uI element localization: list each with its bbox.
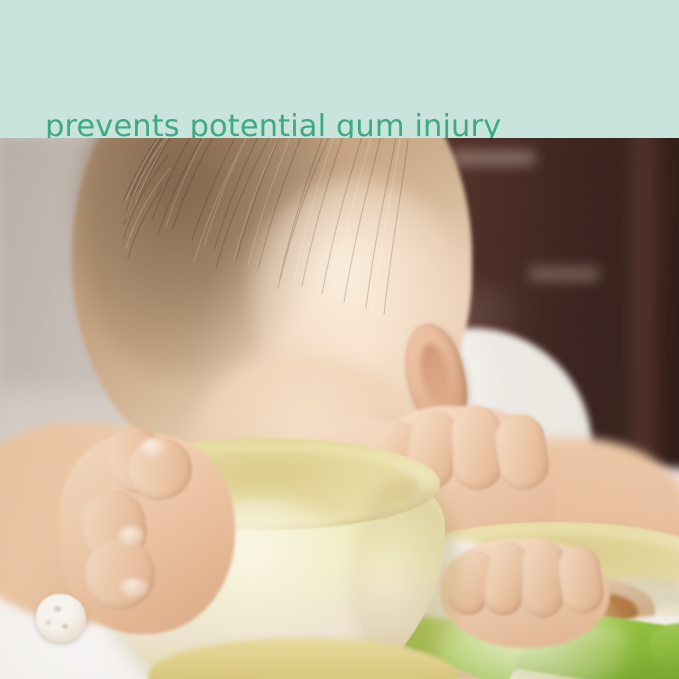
puff-speck-1 (54, 606, 61, 612)
baby-fingernail-2 (118, 526, 144, 546)
product-photo (0, 138, 679, 679)
puff-speck-3 (46, 620, 51, 625)
baby-fingernail-1 (140, 438, 166, 458)
product-feature-banner: prevents potential gum injury & protects… (0, 0, 679, 679)
header-band: prevents potential gum injury & protects… (0, 0, 679, 138)
puff-snack (36, 594, 86, 642)
puff-speck-2 (62, 624, 68, 629)
reaching-finger-3 (521, 540, 564, 619)
baby-fingernail-3 (120, 578, 148, 598)
background-drawer-handle-lower (528, 266, 600, 282)
